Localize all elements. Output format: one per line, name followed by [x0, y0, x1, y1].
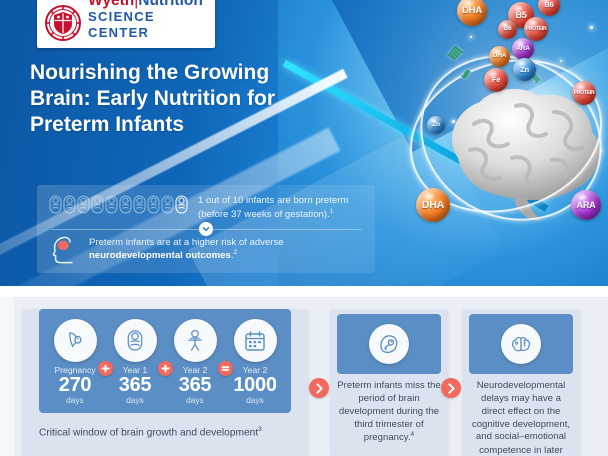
stat-preterm-line1: 1 out of 10 infants are born preterm	[198, 195, 348, 206]
nutrient-bubble-label: Zn	[432, 122, 440, 129]
logo-dept-name: Nutrition	[138, 0, 203, 9]
swaddled-infant-icon	[133, 195, 146, 219]
nutrient-bubble-label: ARA	[577, 201, 596, 210]
nutrient-bubble-label: B6	[504, 26, 512, 33]
info-card-text-body: Neurodevelopmental delays may have a dir…	[472, 380, 570, 456]
info-card-text: Neurodevelopmental delays may have a dir…	[468, 380, 574, 456]
info-card-neurodevelopment: Neurodevelopmental delays may have a dir…	[462, 309, 580, 456]
operator-plus-icon	[158, 361, 173, 376]
swaddled-infant-icon	[147, 195, 160, 219]
stat-preterm-text: 1 out of 10 infants are born preterm (be…	[198, 194, 348, 222]
nutrient-bubble-label: B6	[544, 1, 553, 9]
stat-preterm-line2: (before 37 weeks of gestation).	[198, 209, 330, 220]
sparkle-icon	[560, 60, 562, 62]
stat-preterm-ref: 1	[330, 208, 334, 215]
info-card-text-body: Preterm infants miss the period of brain…	[337, 380, 440, 444]
statistics-band: 1 out of 10 infants are born preterm (be…	[37, 185, 375, 273]
stat-row-preterm-rate: 1 out of 10 infants are born preterm (be…	[49, 194, 363, 222]
swaddled-infant-icon	[77, 195, 90, 219]
timeline-tile-unit: days	[186, 396, 204, 405]
timeline-card: Pregnancy270daysYear 1365daysYear 2365da…	[22, 309, 308, 456]
nutrient-bubble-protein: PROTEIN	[572, 81, 596, 105]
brain-development-icon	[501, 324, 541, 364]
timeline-tile-number: 365	[119, 375, 151, 396]
info-card-ref: 4	[411, 431, 415, 438]
nutrient-bubble-dha: DHA	[489, 46, 510, 67]
stat-row-neurodevelopment: Preterm infants are at a higher risk of …	[49, 236, 363, 264]
nutrient-bubble-dha: DHA	[416, 188, 450, 222]
nutrient-bubble-b6: B6	[498, 20, 517, 39]
nutrient-bubble-label: Fe	[492, 76, 500, 84]
swaddled-infant-icon	[119, 195, 132, 219]
swaddled-infant-icon	[63, 195, 76, 219]
nutrient-bubble-zn: Zn	[513, 58, 536, 81]
nutrient-bubble-label: Zn	[520, 66, 529, 74]
fetus-in-womb-icon	[369, 324, 409, 364]
wyeth-nutrition-logo: Wyeth|Nutrition SCIENCE CENTER	[37, 0, 215, 48]
timeline-tile: Pregnancy270days	[45, 319, 105, 413]
sparkle-icon	[470, 36, 472, 38]
infant-icon-row	[49, 194, 188, 219]
stat-neuro-bold: neurodevelopmental outcomes	[89, 251, 231, 262]
info-card-text: Preterm infants miss the period of brain…	[336, 380, 442, 445]
stat-neuro-line1: Preterm infants are at a higher risk of …	[89, 237, 284, 248]
head-brain-profile-icon	[49, 236, 79, 264]
swaddled-infant-icon	[175, 195, 188, 219]
stat-neuro-ref: 2	[233, 249, 237, 256]
nutrient-bubble-label: DHA	[493, 53, 506, 60]
chevron-right-icon	[309, 378, 329, 398]
logo-subtitle: SCIENCE CENTER	[88, 9, 207, 42]
timeline-caption-ref: 3	[258, 426, 262, 433]
timeline-tile: Year 2365days	[165, 319, 225, 413]
timeline-tile: Year 21000days	[225, 319, 285, 413]
operator-equals-icon	[218, 361, 233, 376]
info-card-icon-panel	[469, 314, 573, 374]
nutrient-bubble-label: DHA	[422, 200, 444, 211]
swaddled-infant-icon	[105, 195, 118, 219]
logo-brand-name: Wyeth	[88, 0, 134, 9]
timeline-panel: Pregnancy270daysYear 1365daysYear 2365da…	[39, 309, 291, 413]
chevron-down-icon	[199, 222, 213, 236]
info-card-preterm-brain: Preterm infants miss the period of brain…	[330, 309, 448, 456]
nutrient-bubble-ara: ARA	[512, 38, 534, 60]
band-divider	[51, 229, 361, 230]
hero-section: ʃʃʃʃ ʃʃʃ ʃʃʃ DHAB5B6B6PROTEINARADHAZnFeP…	[0, 0, 608, 286]
timeline-tile-number: 270	[59, 375, 91, 396]
swaddled-baby-icon	[114, 319, 157, 362]
toddler-icon	[174, 319, 217, 362]
stat-neuro-text: Preterm infants are at a higher risk of …	[89, 236, 284, 262]
body-section: Pregnancy270daysYear 1365daysYear 2365da…	[0, 286, 608, 456]
calendar-icon	[234, 319, 277, 362]
nutrient-bubble-ara: ARA	[571, 190, 601, 220]
timeline-caption: Critical window of brain growth and deve…	[39, 426, 291, 440]
womb-fetus-icon	[54, 319, 97, 362]
nutrient-bubble-label: PROTEIN	[574, 91, 595, 96]
nutrient-bubble-label: B5	[515, 11, 526, 20]
swaddled-infant-icon	[49, 195, 62, 219]
timeline-tile-number: 365	[179, 375, 211, 396]
swaddled-infant-icon	[91, 195, 104, 219]
nutrient-bubble-fe: Fe	[484, 68, 508, 92]
wyeth-shield-seal-icon	[45, 5, 81, 41]
nutrient-bubble-protein: PROTEIN	[524, 17, 548, 41]
operator-plus-icon	[98, 361, 113, 376]
timeline-tile-group: Pregnancy270daysYear 1365daysYear 2365da…	[39, 309, 291, 413]
nutrient-bubble-zn: Zn	[427, 116, 445, 134]
timeline-tile-unit: days	[66, 396, 84, 405]
nutrient-bubble-label: DHA	[462, 6, 482, 16]
timeline-tile-unit: days	[126, 396, 144, 405]
info-card-icon-panel	[337, 314, 441, 374]
body-inner-panel: Pregnancy270daysYear 1365daysYear 2365da…	[0, 297, 608, 456]
timeline-tile-unit: days	[246, 396, 264, 405]
timeline-tile: Year 1365days	[105, 319, 165, 413]
timeline-tile-number: 1000	[233, 375, 276, 396]
infographic-page: ʃʃʃʃ ʃʃʃ ʃʃʃ DHAB5B6B6PROTEINARADHAZnFeP…	[0, 0, 608, 456]
sparkle-icon	[590, 26, 593, 29]
nutrient-bubble-label: ARA	[516, 46, 529, 53]
nutrient-bubble-label: PROTEIN	[526, 27, 547, 32]
timeline-caption-text: Critical window of brain growth and deve…	[39, 427, 258, 438]
chevron-right-icon	[441, 378, 461, 398]
swaddled-infant-icon	[161, 195, 174, 219]
left-rail	[0, 297, 14, 456]
page-title: Nourishing the Growing Brain: Early Nutr…	[30, 60, 290, 137]
